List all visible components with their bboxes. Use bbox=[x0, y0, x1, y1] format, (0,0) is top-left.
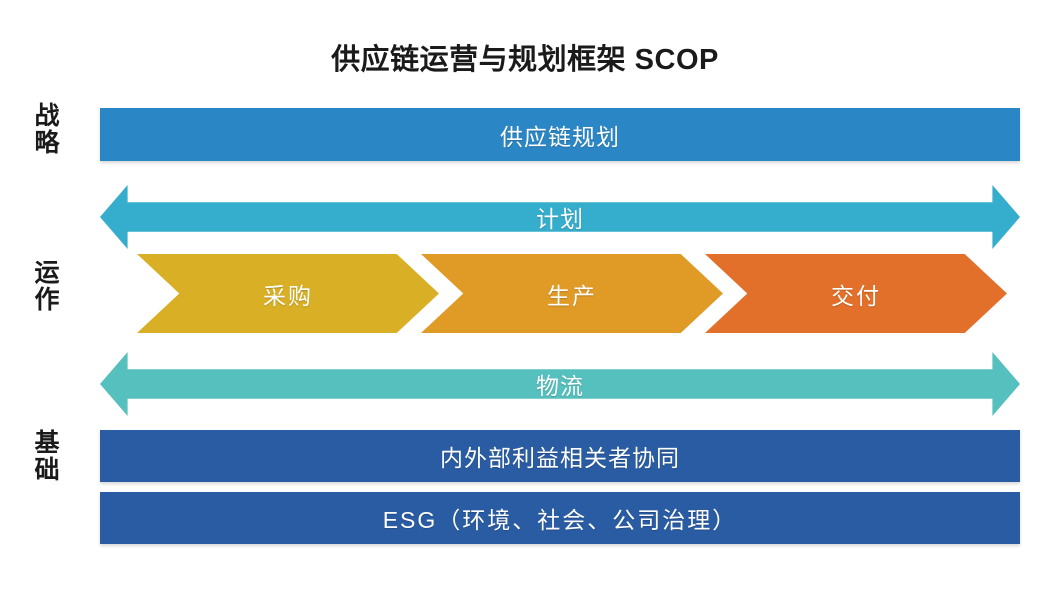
chevron-deliver-label: 交付 bbox=[831, 277, 881, 311]
bar-stakeholder-collaboration: 内外部利益相关者协同 bbox=[100, 430, 1020, 482]
bar-esg-label: ESG（环境、社会、公司治理） bbox=[383, 501, 738, 535]
double-arrow-plan: 计划 bbox=[100, 185, 1020, 249]
chevron-make-label: 生产 bbox=[547, 277, 597, 311]
chevron-make: 生产 bbox=[421, 254, 723, 333]
chevron-source-label: 采购 bbox=[263, 277, 313, 311]
tier-label-foundation-char-2: 础 bbox=[14, 457, 80, 484]
tier-label-strategy-char-2: 略 bbox=[14, 130, 80, 157]
tier-label-strategy: 战 略 bbox=[14, 103, 80, 157]
tier-label-strategy-char-1: 战 bbox=[14, 103, 80, 130]
chevron-source: 采购 bbox=[137, 254, 439, 333]
tier-label-foundation: 基 础 bbox=[14, 430, 80, 484]
double-arrow-logistics: 物流 bbox=[100, 352, 1020, 416]
diagram-canvas: 供应链运营与规划框架 SCOP 战 略 运 作 基 础 供应链规划 计划 采购 … bbox=[0, 0, 1050, 591]
tier-label-operations-char-1: 运 bbox=[14, 260, 80, 287]
bar-supply-chain-planning-label: 供应链规划 bbox=[500, 118, 620, 152]
tier-label-operations: 运 作 bbox=[14, 260, 80, 314]
tier-label-operations-char-2: 作 bbox=[14, 287, 80, 314]
chevron-process-row: 采购 生产 交付 bbox=[137, 254, 1012, 333]
page-title: 供应链运营与规划框架 SCOP bbox=[0, 36, 1050, 78]
bar-supply-chain-planning: 供应链规划 bbox=[100, 108, 1020, 161]
chevron-deliver: 交付 bbox=[705, 254, 1007, 333]
double-arrow-logistics-label: 物流 bbox=[536, 367, 584, 401]
double-arrow-plan-label: 计划 bbox=[536, 200, 584, 234]
tier-label-foundation-char-1: 基 bbox=[14, 430, 80, 457]
bar-esg: ESG（环境、社会、公司治理） bbox=[100, 492, 1020, 544]
bar-stakeholder-collaboration-label: 内外部利益相关者协同 bbox=[440, 439, 680, 473]
